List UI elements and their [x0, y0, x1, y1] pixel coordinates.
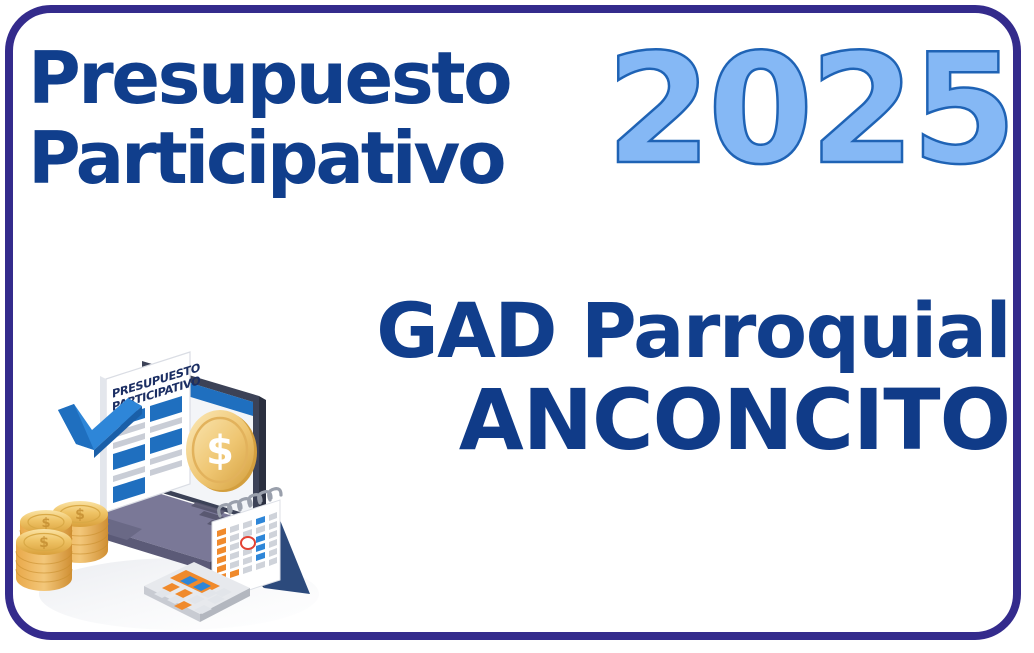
headline-line-1: Presupuesto	[28, 38, 588, 118]
headline-block: Presupuesto Participativo 2025	[28, 38, 1013, 203]
poster-canvas: Presupuesto Participativo 2025 GAD Parro…	[0, 0, 1034, 653]
coin-stack-front-left: $	[16, 529, 72, 591]
headline-words: Presupuesto Participativo	[28, 38, 588, 198]
coin-dollar-symbol: $	[206, 428, 234, 474]
headline-year: 2025	[606, 34, 1013, 186]
headline-line-2: Participativo	[28, 118, 588, 198]
svg-text:$: $	[75, 507, 85, 523]
svg-text:$: $	[41, 516, 50, 531]
budget-illustration: PRESUPUESTO PARTICIPATIVO	[14, 326, 334, 638]
svg-text:$: $	[39, 535, 49, 551]
